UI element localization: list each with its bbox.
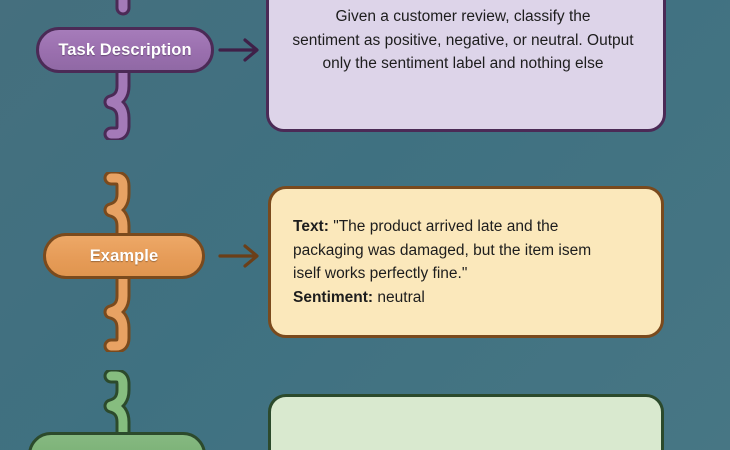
diagram-canvas: Task Description Given a customer review… xyxy=(0,0,730,450)
arrow-right-icon-task-description xyxy=(218,36,268,64)
card-third-section xyxy=(268,394,664,450)
arrow-right-icon-example xyxy=(218,242,268,270)
card-example: Text: "The product arrived late and the … xyxy=(268,186,664,338)
card-example-sentiment-value: neutral xyxy=(373,289,425,306)
label-pill-example-text: Example xyxy=(90,247,159,266)
card-example-sentiment-label: Sentiment: xyxy=(293,289,373,306)
brace-third-section-top xyxy=(86,370,146,440)
label-pill-example[interactable]: Example xyxy=(43,233,205,279)
brace-example-bottom xyxy=(86,276,146,352)
label-pill-task-description[interactable]: Task Description xyxy=(36,27,214,73)
card-task-description-text: Given a customer review, classify the se… xyxy=(269,5,657,76)
card-task-description: Given a customer review, classify the se… xyxy=(266,0,666,132)
label-pill-third-section[interactable] xyxy=(28,432,206,450)
card-example-text-value: "The product arrived late and the packag… xyxy=(293,218,591,282)
brace-task-description-bottom xyxy=(86,68,146,140)
label-pill-task-description-text: Task Description xyxy=(58,41,191,60)
card-example-text: Text: "The product arrived late and the … xyxy=(293,215,647,309)
card-example-text-label: Text: xyxy=(293,218,329,235)
